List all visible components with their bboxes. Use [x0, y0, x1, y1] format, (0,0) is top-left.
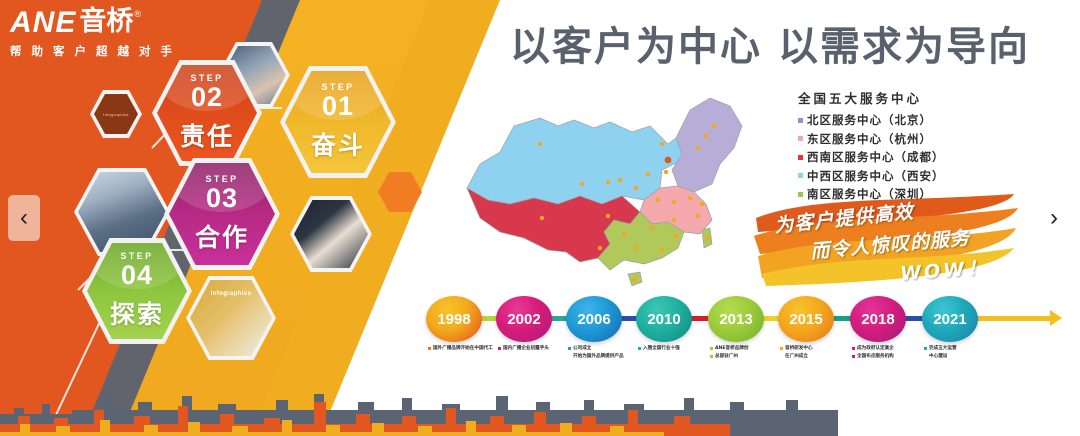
bullet-icon [852, 355, 855, 358]
timeline-node-2006[interactable]: 2006 公司成立 开始为国外品牌提供产品 [566, 296, 622, 342]
caption-text: 总部驻广州 [715, 354, 738, 361]
china-map [462, 92, 762, 300]
bullet-icon [780, 347, 783, 350]
bullet-icon [638, 347, 641, 350]
timeline-caption: 国内广播企业初露手头 [498, 346, 570, 354]
carousel-next-button[interactable]: › [1038, 195, 1070, 241]
logo[interactable]: ANE 音桥 ® 帮 助 客 户 超 越 对 手 [10, 8, 190, 59]
bullet-spacer [780, 355, 783, 358]
bullet-icon [568, 347, 571, 350]
carousel-prev-button[interactable]: ‹ [8, 195, 40, 241]
caption-text: 国外广播品牌开始在中国代工 [433, 346, 493, 353]
brush-calligraphy-block: 为客户提供高效 而令人惊叹的服务 WOW！ [752, 192, 1020, 288]
timeline-node-2015[interactable]: 2015 音桥研发中心 在广州成立 [778, 296, 834, 342]
step-02-number: 02 [191, 83, 223, 111]
calligraphy-text: 为客户提供高效 而令人惊叹的服务 WOW！ [752, 192, 1020, 288]
timeline-year: 2015 [778, 296, 834, 342]
bullet-icon [924, 347, 927, 350]
company-timeline: 1998 国外广播品牌开始在中国代工 2002 国内广播企业初露手头 2006 … [420, 296, 1060, 380]
caption-text: 完成五大运营 [929, 346, 957, 353]
timeline-caption: 公司成立 开始为国外品牌提供产品 [568, 346, 640, 362]
timeline-caption: 完成五大运营 中心建设 [924, 346, 996, 362]
bullet-icon [798, 118, 803, 123]
caption-text: ANE音桥品牌创 [715, 346, 749, 353]
timeline-node-2002[interactable]: 2002 国内广播企业初露手头 [496, 296, 552, 342]
step-02-body: STEP 02 责任 [157, 65, 257, 161]
timeline-year: 2013 [708, 296, 764, 342]
chevron-right-icon: › [1050, 204, 1058, 232]
world-map-badge-caption: Infographics [103, 112, 128, 117]
logo-latin-text: ANE [10, 8, 76, 38]
timeline-caption: ANE音桥品牌创 总部驻广州 [710, 346, 782, 362]
timeline-year: 2010 [636, 296, 692, 342]
step-04-body: STEP 04 探索 [87, 243, 187, 339]
map-highlight-dot [665, 157, 672, 164]
logo-chinese-text: 音桥 [79, 8, 133, 35]
map-region-northwest [467, 118, 688, 204]
timeline-connector [968, 316, 1050, 321]
timeline-caption: 国外广播品牌开始在中国代工 [428, 346, 500, 354]
step-04-number: 04 [121, 261, 153, 289]
service-center-label: 北区服务中心（北京） [807, 112, 932, 128]
calligraphy-line-3: WOW！ [899, 253, 990, 286]
bullet-icon [798, 192, 803, 197]
bullet-icon [710, 347, 713, 350]
timeline-year: 2002 [496, 296, 552, 342]
timeline-node-2013[interactable]: 2013 ANE音桥品牌创 总部驻广州 [708, 296, 764, 342]
logo-tagline: 帮 助 客 户 超 越 对 手 [10, 43, 190, 59]
bullet-icon [852, 347, 855, 350]
timeline-node-1998[interactable]: 1998 国外广播品牌开始在中国代工 [426, 296, 482, 342]
map-region-northeast [672, 98, 742, 192]
caption-text: 国内广播企业初露手头 [503, 346, 549, 353]
page-title: 以客户为中心 以需求为导向 [470, 14, 1070, 72]
service-center-item-north: 北区服务中心（北京） [798, 112, 945, 128]
caption-text: 中心建设 [929, 354, 947, 361]
timeline-year: 2006 [566, 296, 622, 342]
service-center-label: 西南区服务中心（成都） [807, 149, 945, 165]
service-center-item-midwest: 中西区服务中心（西安） [798, 168, 945, 184]
timeline-arrow-icon [1050, 310, 1062, 326]
city-skyline-decor [0, 370, 1080, 436]
service-center-label: 中西区服务中心（西安） [807, 168, 945, 184]
step-01-body: STEP 01 奋斗 [285, 71, 391, 173]
timeline-caption: 音桥研发中心 在广州成立 [780, 346, 852, 362]
bullet-spacer [924, 355, 927, 358]
caption-text: 全国布点服务机构 [857, 354, 894, 361]
bullet-icon [428, 347, 431, 350]
timeline-node-2018[interactable]: 2018 成为政府认定高企 全国布点服务机构 [850, 296, 906, 342]
service-centers-panel: 全国五大服务中心 北区服务中心（北京） 东区服务中心（杭州） 西南区服务中心（成… [798, 88, 945, 205]
caption-text: 音桥研发中心 [785, 346, 813, 353]
service-center-item-south: 南区服务中心（深圳） [798, 186, 945, 202]
bullet-icon [710, 355, 713, 358]
step-04-title: 探索 [110, 295, 164, 331]
step-03-body: STEP 03 合作 [169, 163, 275, 265]
service-center-item-east: 东区服务中心（杭州） [798, 131, 945, 147]
caption-text: 公司成立 [573, 346, 591, 353]
timeline-node-2021[interactable]: 2021 完成五大运营 中心建设 [922, 296, 978, 342]
caption-text: 成为政府认定高企 [857, 346, 894, 353]
infographics-hex-caption: Infographics [211, 291, 252, 297]
caption-text: 入围全国行业十强 [643, 346, 680, 353]
timeline-year: 1998 [426, 296, 482, 342]
timeline-node-2010[interactable]: 2010 入围全国行业十强 [636, 296, 692, 342]
service-center-item-southwest: 西南区服务中心（成都） [798, 149, 945, 165]
step-02-title: 责任 [180, 117, 234, 153]
chevron-left-icon: ‹ [20, 204, 28, 232]
service-centers-title: 全国五大服务中心 [798, 88, 945, 107]
bullet-spacer [568, 355, 571, 358]
step-03-title: 合作 [195, 218, 249, 254]
slide-canvas: ANE 音桥 ® 帮 助 客 户 超 越 对 手 Infographics In… [0, 0, 1080, 436]
bullet-icon [798, 173, 803, 178]
bullet-icon [798, 155, 803, 160]
bullet-icon [798, 136, 803, 141]
registered-trademark-icon: ® [134, 9, 141, 19]
caption-text: 在广州成立 [785, 354, 808, 361]
step-01-number: 01 [322, 92, 354, 120]
timeline-year: 2018 [850, 296, 906, 342]
timeline-year: 2021 [922, 296, 978, 342]
service-center-label: 东区服务中心（杭州） [807, 131, 932, 147]
caption-text: 开始为国外品牌提供产品 [573, 354, 624, 361]
service-center-label: 南区服务中心（深圳） [807, 186, 932, 202]
step-01-title: 奋斗 [311, 126, 365, 162]
bullet-icon [498, 347, 501, 350]
step-03-number: 03 [206, 184, 238, 212]
timeline-caption: 成为政府认定高企 全国布点服务机构 [852, 346, 924, 362]
timeline-caption: 入围全国行业十强 [638, 346, 710, 354]
